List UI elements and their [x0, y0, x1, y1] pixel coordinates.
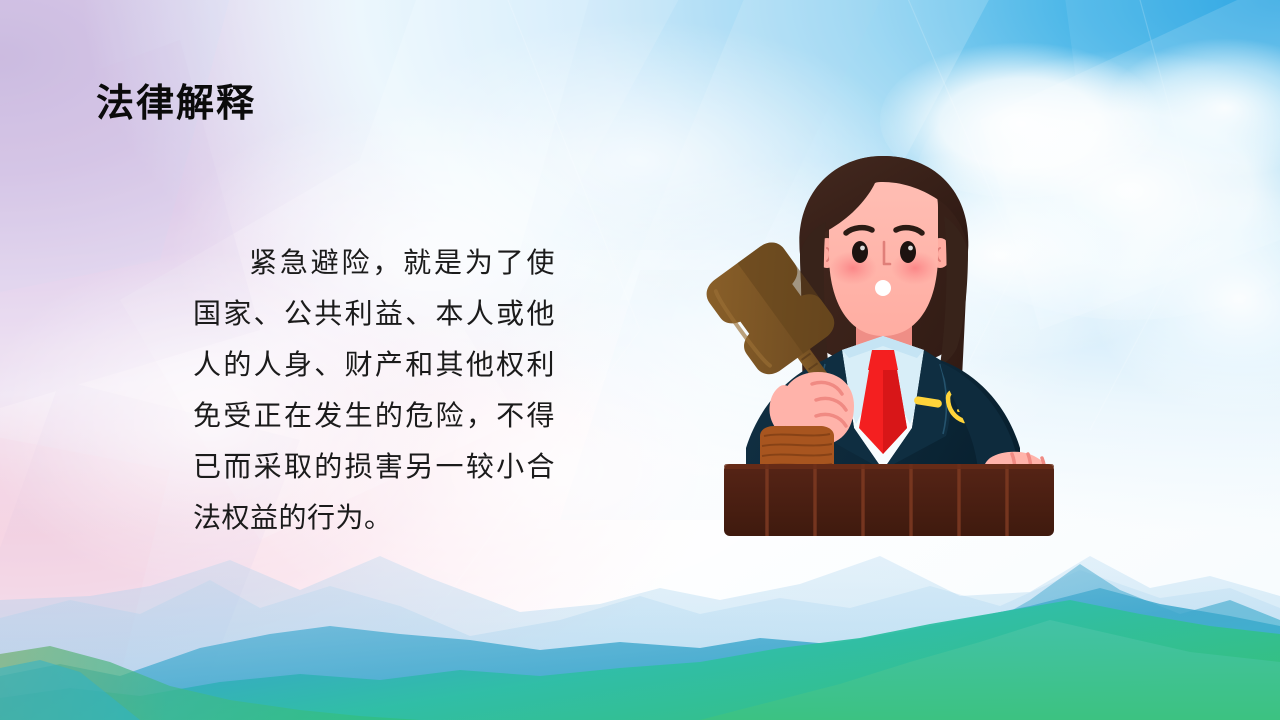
body-paragraph: 紧急避险，就是为了使国家、公共利益、本人或他人的人身、财产和其他权利免受正在发生… [193, 237, 555, 543]
female-judge-with-gavel-graphic [672, 136, 1092, 536]
judge-illustration [672, 136, 1092, 536]
right-eye [900, 241, 916, 263]
left-eye [852, 241, 868, 263]
right-eye-highlight [908, 246, 913, 251]
slide-root: 法律解释 紧急避险，就是为了使国家、公共利益、本人或他人的人身、财产和其他权利免… [0, 0, 1280, 720]
necktie-knot [868, 350, 898, 370]
judge-bench [724, 464, 1054, 536]
left-eye-highlight [860, 246, 865, 251]
mouth [875, 280, 891, 296]
page-title: 法律解释 [96, 82, 256, 128]
